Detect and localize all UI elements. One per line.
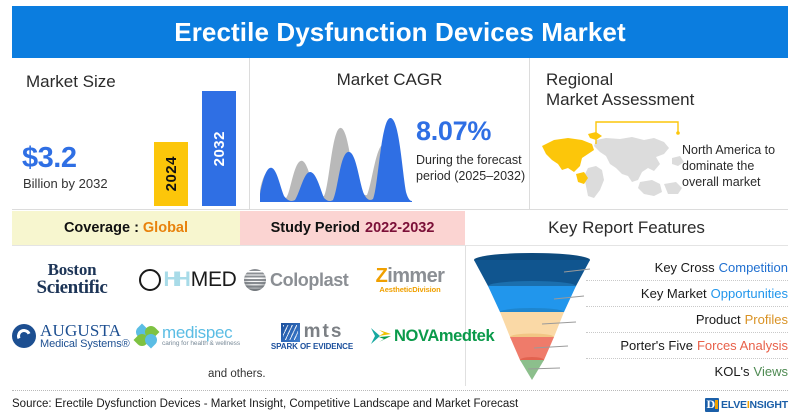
funnel-labels: Key Cross Competition Key Market Opportu… (586, 248, 788, 384)
funnel-label-5: KOL's Views (586, 358, 788, 384)
panel-regional-assessment: Regional Market Assessment (530, 58, 788, 210)
company-logos: Boston Scientific HH MED Coloplast (12, 250, 460, 386)
bar-2024: 2024 (154, 142, 188, 206)
logo-coloplast: Coloplast (244, 256, 362, 304)
medispec-line1: medispec (162, 324, 240, 342)
logo-ohhmed: HH MED (132, 256, 244, 304)
key-report-features-funnel: Key Cross Competition Key Market Opportu… (466, 248, 788, 386)
divider-top (12, 209, 788, 210)
bar-2024-label: 2024 (163, 156, 180, 191)
map-leader-line (594, 116, 680, 146)
strip-study-period: Study Period 2022-2032 (240, 211, 465, 245)
funnel-label-5-colored: Views (754, 364, 788, 379)
logo-boston-scientific: Boston Scientific (12, 256, 132, 304)
market-cagr-heading: Market CAGR (250, 70, 529, 90)
regional-heading-line2: Market Assessment (546, 90, 694, 110)
funnel-chart (468, 250, 596, 382)
header-banner: Erectile Dysfunction Devices Market (12, 6, 788, 58)
medispec-tagline: caring for health & wellness (162, 341, 240, 348)
funnel-layer-5 (520, 360, 544, 380)
funnel-label-1: Key Cross Competition (586, 254, 788, 280)
logo-mts: mts SPARK OF EVIDENCE (254, 312, 370, 360)
and-others-label: and others. (208, 368, 266, 380)
funnel-label-4-colored: Forces Analysis (697, 338, 788, 353)
divider-strips (12, 245, 788, 246)
source-text: Source: Erectile Dysfunction Devices - M… (12, 398, 518, 410)
funnel-label-1-colored: Competition (719, 260, 788, 275)
market-size-bar-chart: 2024 2032 (152, 86, 248, 206)
strip-coverage: Coverage : Global (12, 211, 240, 245)
footer-divider (12, 390, 788, 391)
study-period-value: 2022-2032 (365, 220, 434, 236)
funnel-layer-4 (510, 337, 554, 360)
coverage-label: Coverage : (64, 220, 139, 236)
market-size-value: $3.2 (22, 142, 76, 175)
mts-square-icon (281, 323, 300, 342)
market-size-subtitle: Billion by 2032 (23, 176, 108, 191)
market-size-heading: Market Size (26, 72, 116, 92)
logo-row-2: AUGUSTA Medical Systems® medispec caring… (12, 312, 460, 360)
panel-market-cagr: Market CAGR 8.07% During the forecast pe… (250, 58, 530, 210)
boston-scientific-line2: Scientific (12, 279, 132, 298)
regional-heading-line1: Regional (546, 70, 694, 90)
ohhmed-hh: HH (163, 268, 187, 292)
study-period-label: Study Period (271, 220, 360, 236)
funnel-label-2-plain: Key Market (641, 286, 707, 301)
funnel-label-5-plain: KOL's (715, 364, 750, 379)
logo-row-1: Boston Scientific HH MED Coloplast (12, 256, 460, 304)
cagr-area-chart (260, 110, 412, 202)
bar-2032: 2032 (202, 91, 236, 206)
coloplast-globe-icon (244, 269, 266, 291)
brand-text-1: ELVE (721, 399, 747, 411)
augusta-line1: AUGUSTA (40, 322, 130, 339)
mts-line1: mts (304, 321, 344, 343)
funnel-label-4-plain: Porter's Five (620, 338, 693, 353)
bar-2032-label: 2032 (211, 131, 228, 166)
funnel-label-3-colored: Profiles (745, 312, 788, 327)
infographic-page: Erectile Dysfunction Devices Market Mark… (0, 0, 800, 420)
delveinsight-mark-icon (705, 398, 719, 412)
regional-heading: Regional Market Assessment (546, 70, 694, 110)
cagr-value: 8.07% (416, 116, 491, 147)
funnel-label-1-plain: Key Cross (655, 260, 715, 275)
top-panels: Market Size $3.2 Billion by 2032 2024 20… (12, 58, 788, 210)
logo-zimmer: Zimmer AestheticDivision (362, 256, 458, 304)
funnel-label-2: Key Market Opportunities (586, 280, 788, 306)
coverage-value: Global (143, 220, 188, 236)
ohhmed-o-icon (139, 269, 161, 291)
novamedtek-arrow-icon (370, 327, 392, 345)
logo-augusta-medical-systems: AUGUSTA Medical Systems® (12, 312, 136, 360)
funnel-label-3: Product Profiles (586, 306, 788, 332)
info-strips: Coverage : Global Study Period 2022-2032… (12, 211, 788, 245)
zimmer-rest: immer (387, 265, 444, 287)
coloplast-text: Coloplast (270, 270, 348, 291)
medispec-knot-icon (136, 326, 158, 346)
augusta-line2: Medical Systems® (40, 339, 130, 350)
funnel-label-2-colored: Opportunities (711, 286, 788, 301)
logo-medispec: medispec caring for health & wellness (136, 312, 254, 360)
ohhmed-med: MED (191, 268, 237, 292)
cagr-note: During the forecast period (2025–2032) (416, 152, 536, 184)
funnel-label-3-plain: Product (696, 312, 741, 327)
delveinsight-wordmark: ELVEINSIGHT (721, 399, 788, 411)
zimmer-z: Z (376, 265, 388, 287)
panel-market-size: Market Size $3.2 Billion by 2032 2024 20… (12, 58, 250, 210)
key-report-features-title: Key Report Features (465, 211, 788, 245)
brand-text-2: NSIGHT (750, 399, 788, 411)
delveinsight-logo: ELVEINSIGHT (705, 398, 788, 412)
funnel-label-4: Porter's Five Forces Analysis (586, 332, 788, 358)
page-title: Erectile Dysfunction Devices Market (174, 17, 625, 48)
mts-tagline: SPARK OF EVIDENCE (254, 342, 370, 351)
funnel-layer-3 (500, 312, 564, 337)
regional-note: North America to dominate the overall ma… (682, 142, 786, 190)
augusta-swirl-icon (12, 324, 36, 348)
